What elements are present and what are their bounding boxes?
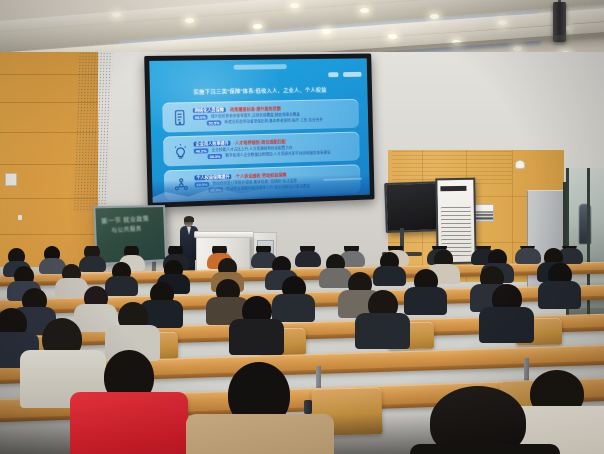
stat-text: 新就业形态劳动者参保比例,基本养老保险·医疗·工伤·失业合并 (224, 118, 322, 125)
downlight-icon (498, 20, 507, 25)
slide-title: 实施下沉三类"保障"体系:低收入人、之业人、个人权益 (150, 87, 368, 98)
stat-chip: 38.3% (207, 154, 222, 159)
chair-hinge (304, 400, 312, 414)
document-phone-icon (167, 105, 191, 129)
stat-chip: 46.2% (194, 148, 209, 153)
audience-seating (0, 246, 604, 454)
downlight-icon (430, 14, 439, 19)
downlight-icon (322, 29, 331, 34)
projection-screen[interactable]: 实施下沉三类"保障"体系:低收入人、之业人、个人权益 (144, 53, 374, 207)
card-heading-highlight: 企业用人效率提升 (194, 141, 231, 147)
downlight-icon (185, 18, 194, 23)
downlight-icon (388, 34, 397, 39)
downlight-icon (360, 8, 369, 13)
presenter-hair (184, 216, 194, 222)
chalkboard-line-1: 第一节 就业政策 (101, 217, 150, 226)
downlight-icon (290, 3, 299, 8)
downlight-icon (112, 12, 121, 17)
chalkboard-line-2: 与公共服务 (111, 225, 150, 237)
lightbulb-idea-icon (168, 139, 192, 164)
card-heading-sub: ·政策覆盖标准·提升服务范围 (229, 106, 281, 112)
wall-marker (18, 215, 22, 220)
slide-card: 网络化人员保障 ·政策覆盖标准·提升服务范围 68.0% 城乡居民养老参保率提升… (162, 99, 359, 133)
light-switch[interactable] (5, 173, 17, 186)
slide-header-tag (233, 64, 287, 70)
chalkboard-writing: 第一节 就业政策 与公共服务 (101, 216, 150, 238)
stat-chip: 52.5% (207, 120, 222, 125)
card-heading-highlight: 网络化人员保障 (193, 107, 226, 113)
lectern-top (194, 231, 254, 238)
card-heading-sub: ·人才培养规划·岗位适配匹配 (234, 139, 286, 145)
slide-corner-tags (328, 72, 361, 77)
stat-chip: 68.0% (193, 114, 208, 119)
screen-bezel: 实施下沉三类"保障"体系:低收入人、之业人、个人权益 (144, 53, 374, 207)
smoke-detector-icon (515, 160, 525, 169)
downlight-icon (253, 24, 262, 29)
perforated-acoustic-panel (73, 52, 113, 212)
lecture-hall-photo: 实施下沉三类"保障"体系:低收入人、之业人、个人权益 (0, 0, 604, 454)
slide-surface: 实施下沉三类"保障"体系:低收入人、之业人、个人权益 (149, 58, 370, 202)
stat-text: 数字化用人企业数量比例增加,人才资源共享平台协同服务体系建设 (225, 151, 330, 159)
slide-card: 企业用人效率提升 ·人才培养规划·岗位适配匹配 46.2% 企业技能人才占比上升… (163, 132, 360, 167)
slide-card-list: 网络化人员保障 ·政策覆盖标准·提升服务范围 68.0% 城乡居民养老参保率提升… (162, 99, 360, 187)
